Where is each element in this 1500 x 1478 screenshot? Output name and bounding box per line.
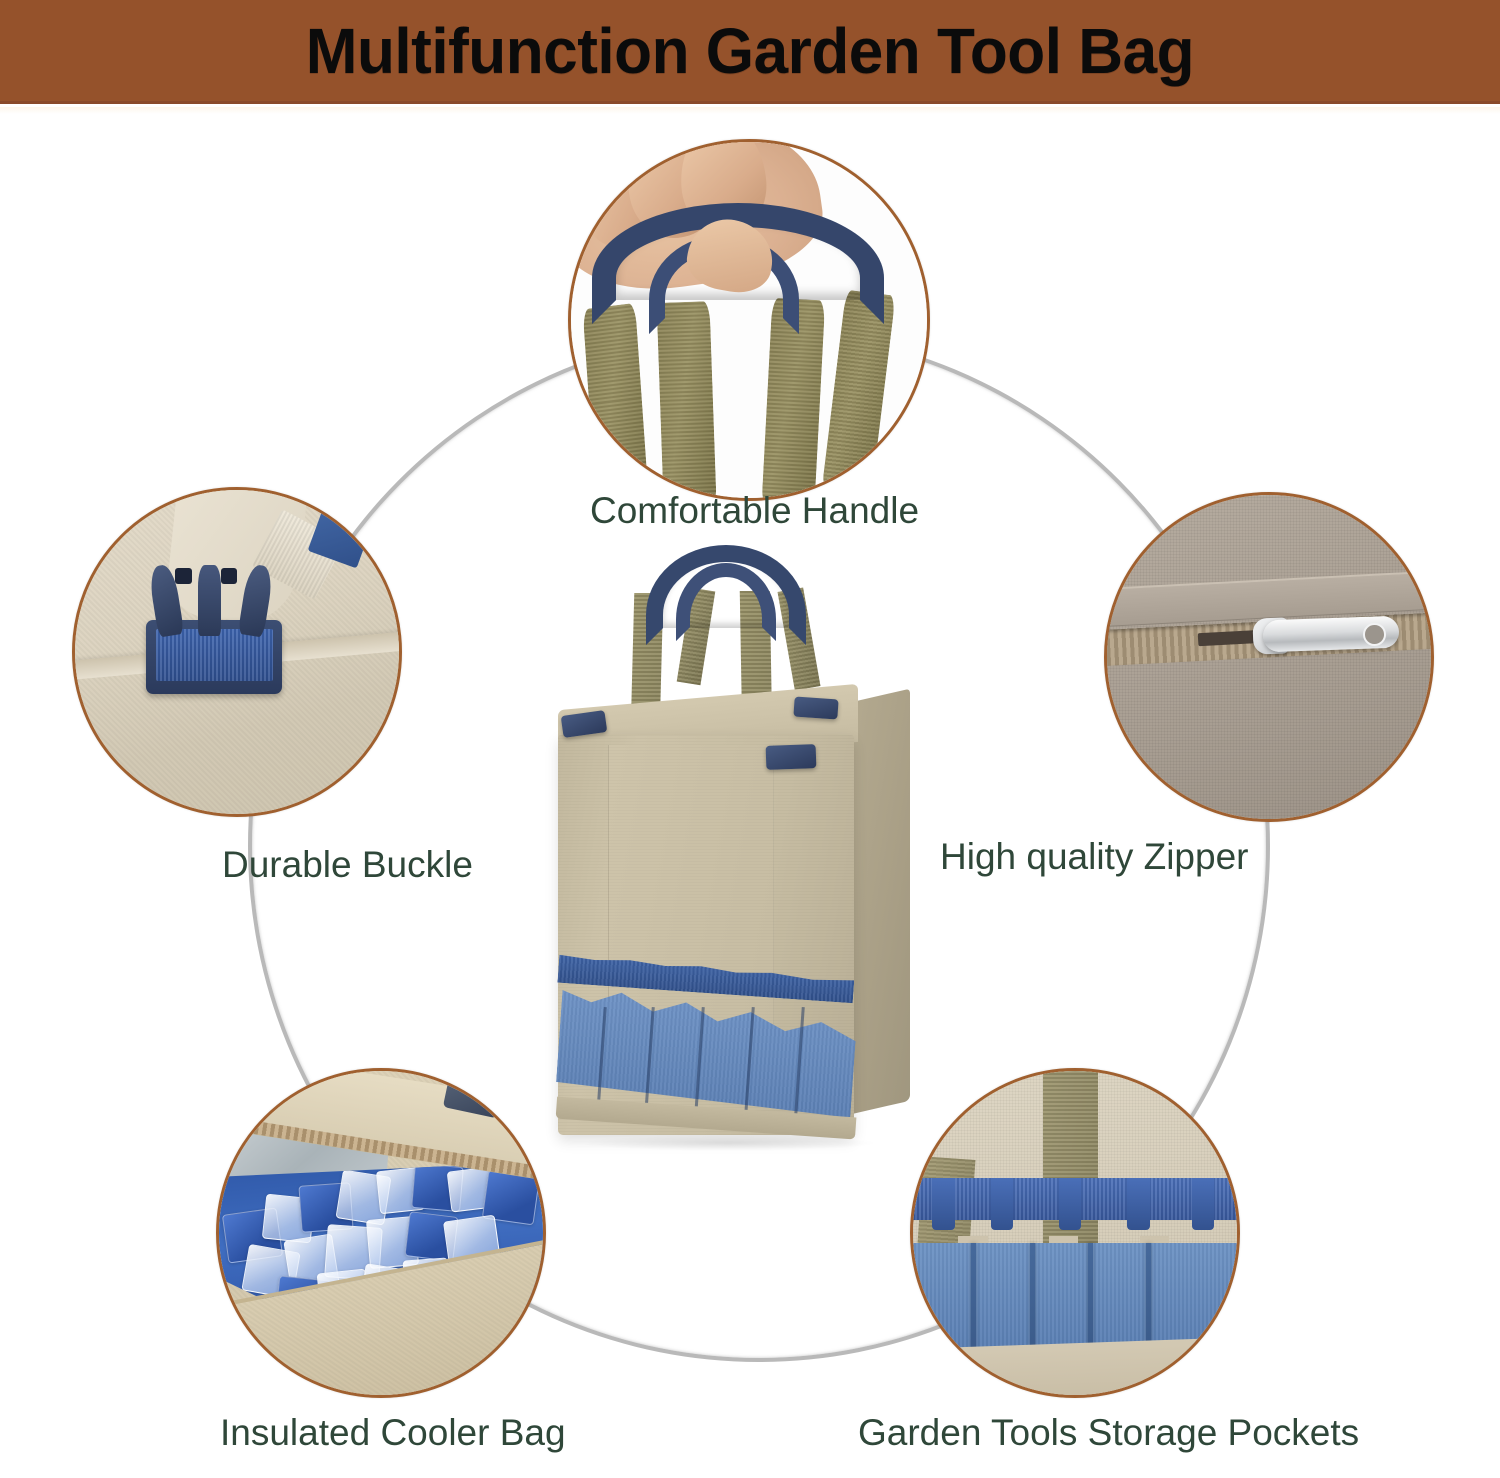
elastic-tool-loop (1059, 1178, 1082, 1230)
callout-label-garden-tools-storage-pockets: Garden Tools Storage Pockets (858, 1414, 1359, 1453)
high-quality-zipper-image (1104, 492, 1434, 822)
callout-durable-buckle[interactable] (72, 487, 402, 817)
callout-label-durable-buckle: Durable Buckle (222, 846, 473, 885)
pocket-divider (1030, 1243, 1035, 1350)
zipper-pull-hole (1363, 623, 1386, 646)
blue-webbing-strap (156, 629, 273, 681)
callout-insulated-cooler-bag[interactable] (216, 1068, 546, 1398)
blue-storage-pocket-row (910, 1243, 1240, 1350)
durable-buckle-image (72, 487, 402, 817)
elastic-tool-loop (1127, 1178, 1150, 1230)
page-title: Multifunction Garden Tool Bag (306, 19, 1194, 83)
header-banner: Multifunction Garden Tool Bag (0, 0, 1500, 104)
bag-buckle (766, 744, 817, 770)
elastic-tool-loop (1192, 1178, 1215, 1230)
pocket-divider (1088, 1243, 1093, 1350)
insulated-cooler-bag-image (216, 1068, 546, 1398)
elastic-tool-loop (932, 1178, 955, 1230)
elastic-tool-loop (991, 1178, 1014, 1230)
bag-navy-handle-inner (676, 563, 776, 641)
buckle-slot (221, 568, 237, 584)
buckle-slot (175, 568, 191, 584)
garden-tools-storage-pockets-image (910, 1068, 1240, 1398)
callout-label-comfortable-handle: Comfortable Handle (590, 492, 919, 531)
pocket-divider (1146, 1243, 1151, 1350)
banner-underglow (0, 107, 1500, 114)
bag-buckle (793, 696, 838, 719)
buckle-center-rib (198, 565, 221, 636)
olive-webbing-strap (1043, 1068, 1098, 1259)
product-image-garden-tool-bag (548, 545, 918, 1165)
callout-label-insulated-cooler-bag: Insulated Cooler Bag (220, 1414, 566, 1453)
callout-comfortable-handle[interactable] (568, 139, 930, 501)
comfortable-handle-image (568, 139, 930, 501)
pocket-divider (971, 1243, 976, 1350)
callout-garden-tools-storage-pockets[interactable] (910, 1068, 1240, 1398)
bag-drop-shadow (578, 1135, 878, 1151)
callout-high-quality-zipper[interactable] (1104, 492, 1434, 822)
callout-label-high-quality-zipper: High quality Zipper (940, 838, 1248, 877)
